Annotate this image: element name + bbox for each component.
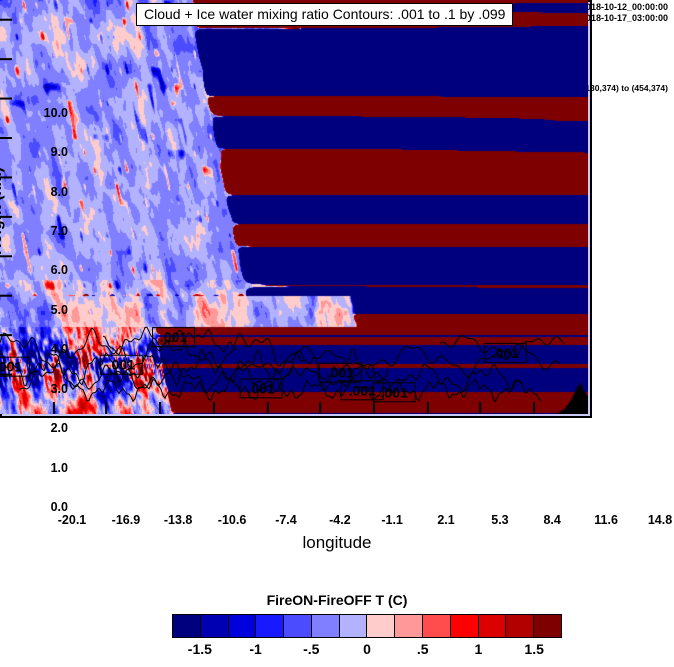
x-axis-ticks: -20.1-16.9-13.8-10.6-7.4-4.2-1.12.15.38.… (72, 513, 664, 533)
x-tick-label: 8.4 (543, 513, 560, 527)
x-tick-label: -20.1 (58, 513, 87, 527)
x-tick-label: -4.2 (329, 513, 351, 527)
x-tick-label: -1.1 (381, 513, 403, 527)
colorbar-cell-6 (340, 615, 368, 637)
cross-section-plot: .001.001.001.001.001.001.001.001 Cloud +… (0, 0, 592, 418)
contour-label-7: .001 (484, 343, 526, 362)
contour-label-text: .001 (349, 382, 376, 398)
x-tick-label: -16.9 (112, 513, 141, 527)
colorbar (172, 614, 562, 638)
x-tick-label: -10.6 (218, 513, 247, 527)
colorbar-tick-label: -1.5 (188, 641, 212, 657)
x-tick-label: 5.3 (491, 513, 508, 527)
y-axis-ticks: 0.01.02.03.04.05.06.07.08.09.010.0 (14, 93, 68, 511)
colorbar-cell-13 (534, 615, 561, 637)
y-tick-label: 10.0 (24, 106, 68, 120)
colorbar-cell-11 (479, 615, 507, 637)
contour-label-text: .001 (108, 357, 135, 373)
y-tick-label: 1.0 (24, 461, 68, 475)
colorbar-tick-label: 1 (475, 641, 483, 657)
colorbar-tick-label: -1 (249, 641, 261, 657)
y-tick-label: 4.0 (24, 342, 68, 356)
contour-label-text: .001 (248, 380, 275, 396)
axis-tick-marks (0, 20, 534, 414)
colorbar-cell-0 (173, 615, 201, 637)
y-tick-label: 2.0 (24, 421, 68, 435)
y-tick-label: 6.0 (24, 263, 68, 277)
contour-line-4 (69, 378, 541, 402)
y-tick-label: 7.0 (24, 224, 68, 238)
colorbar-cell-1 (201, 615, 229, 637)
colorbar-cell-8 (395, 615, 423, 637)
y-axis-title: Height (km) (0, 167, 6, 255)
cloud-ice-contour-overlay: .001.001.001.001.001.001.001.001 (0, 0, 588, 414)
x-axis-title: longitude (0, 533, 674, 553)
colorbar-cell-12 (506, 615, 534, 637)
contour-label-text: .001 (492, 345, 519, 361)
colorbar-cell-9 (423, 615, 451, 637)
contour-title-box: Cloud + Ice water mixing ratio Contours:… (136, 3, 513, 26)
colorbar-tick-label: .5 (417, 641, 429, 657)
colorbar-cell-3 (256, 615, 284, 637)
contour-label-text: .001 (327, 365, 354, 381)
colorbar-cell-5 (312, 615, 340, 637)
x-tick-label: 14.8 (648, 513, 672, 527)
contour-label-text: .001 (381, 384, 408, 400)
x-tick-label: 11.6 (594, 513, 618, 527)
colorbar-tick-label: 0 (363, 641, 371, 657)
colorbar-ticks: -1.5-1-.50.511.5 (172, 641, 562, 661)
x-tick-label: -13.8 (164, 513, 193, 527)
contour-label-text: .001 (160, 329, 187, 345)
x-tick-label: 2.1 (437, 513, 454, 527)
colorbar-title: FireON-FireOFF T (C) (0, 592, 674, 608)
y-tick-label: 3.0 (24, 382, 68, 396)
colorbar-cell-7 (367, 615, 395, 637)
colorbar-cell-4 (284, 615, 312, 637)
y-tick-label: 5.0 (24, 303, 68, 317)
y-tick-label: 0.0 (24, 500, 68, 514)
colorbar-tick-label: 1.5 (524, 641, 543, 657)
colorbar-tick-label: -.5 (303, 641, 319, 657)
colorbar-cell-2 (229, 615, 257, 637)
y-tick-label: 8.0 (24, 185, 68, 199)
contour-label-2: .001 (153, 328, 195, 347)
y-tick-label: 9.0 (24, 145, 68, 159)
colorbar-cell-10 (451, 615, 479, 637)
x-tick-label: -7.4 (275, 513, 297, 527)
